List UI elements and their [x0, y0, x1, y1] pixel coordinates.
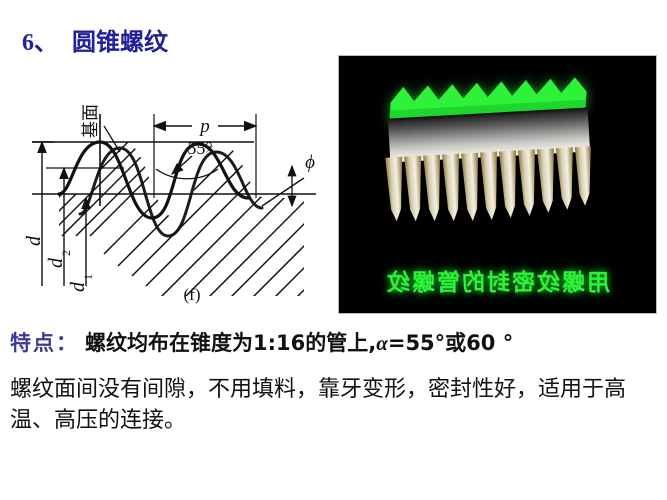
- page-title: 6、 圆锥螺纹: [22, 22, 168, 57]
- description-paragraph: 螺纹面间没有间隙，不用填料，靠牙变形，密封性好，适用于高温、高压的连接。: [10, 374, 660, 436]
- render-caption: 用螺纹密封的管螺纹: [339, 263, 656, 297]
- angle-label: 55°: [187, 138, 212, 158]
- slide-root: 6、 圆锥螺纹: [0, 0, 667, 500]
- svg-text:基面: 基面: [81, 104, 101, 138]
- phi-label: ϕ: [305, 152, 315, 173]
- svg-text:2: 2: [59, 250, 73, 256]
- feature-text-before-alpha: 螺纹均布在锥度为1:16的管上,: [85, 327, 376, 357]
- thread-render-panel: 用螺纹密封的管螺纹: [338, 55, 657, 314]
- feature-line: 特点： 螺纹均布在锥度为1:16的管上, α =55°或60 °: [10, 327, 513, 357]
- feature-label: 特点：: [10, 327, 79, 357]
- svg-text:d: d: [45, 257, 67, 268]
- render-stage: 用螺纹密封的管螺纹: [339, 56, 656, 313]
- label-major-diameter: d: [23, 235, 45, 246]
- gold-thread-teeth: [385, 146, 595, 229]
- feature-text-after-alpha: =55°或60 °: [388, 327, 513, 357]
- pitch-label: p: [198, 116, 210, 137]
- svg-text:d: d: [23, 235, 45, 246]
- thread-profile-diagram: p 55° ϕ d d 2 d 1: [4, 86, 334, 312]
- svg-text:d: d: [67, 281, 89, 292]
- label-base-plane: 基面: [81, 104, 101, 138]
- title-text: 圆锥螺纹: [72, 22, 168, 57]
- title-number: 6、: [22, 22, 58, 57]
- svg-text:1: 1: [81, 274, 95, 280]
- alpha-symbol: α: [376, 331, 388, 356]
- diagram-caption: (f): [184, 285, 201, 304]
- section-hatching: [4, 116, 334, 312]
